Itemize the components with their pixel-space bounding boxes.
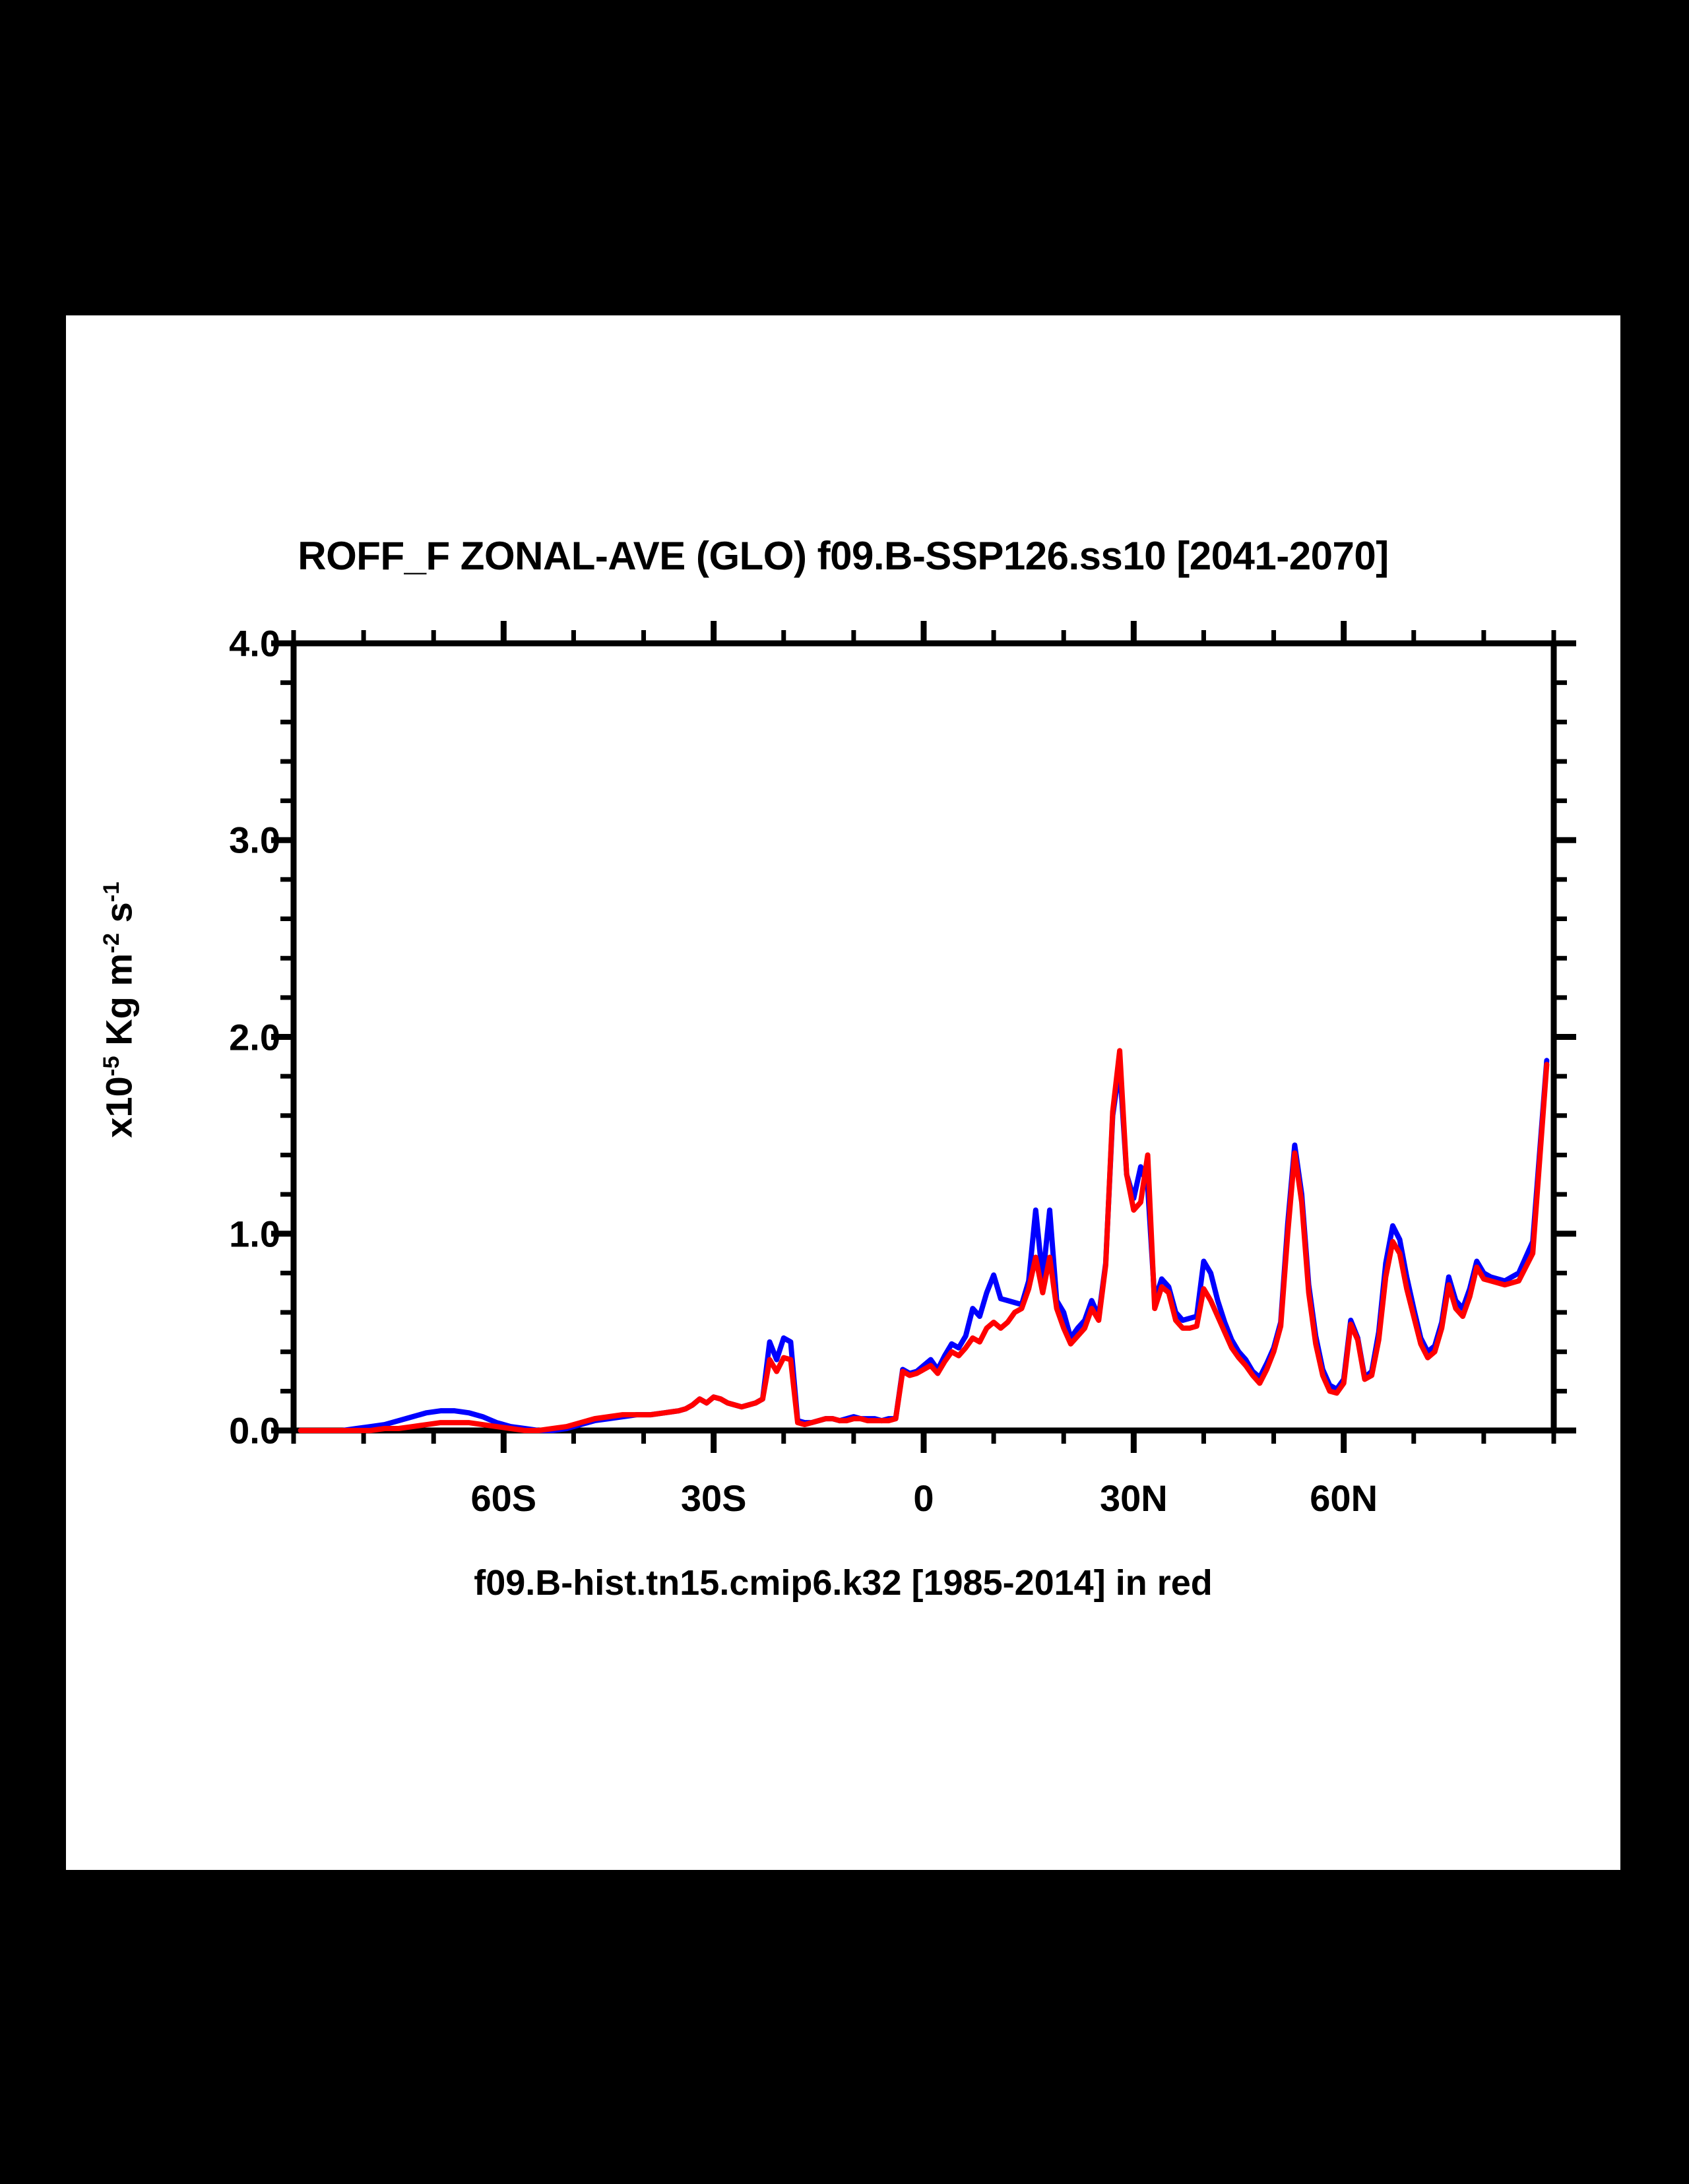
- figure-root: ROFF_F ZONAL-AVE (GLO) f09.B-SSP126.ss10…: [0, 0, 1689, 2184]
- chart-caption: f09.B-hist.tn15.cmip6.k32 [1985-2014] in…: [66, 1562, 1620, 1603]
- axes-frame: [294, 643, 1554, 1430]
- figure-panel: ROFF_F ZONAL-AVE (GLO) f09.B-SSP126.ss10…: [66, 315, 1620, 1870]
- plot-area: [66, 315, 1620, 1870]
- series-line-blue: [301, 1060, 1547, 1430]
- data-series: [301, 1050, 1547, 1430]
- series-line-red: [301, 1050, 1547, 1430]
